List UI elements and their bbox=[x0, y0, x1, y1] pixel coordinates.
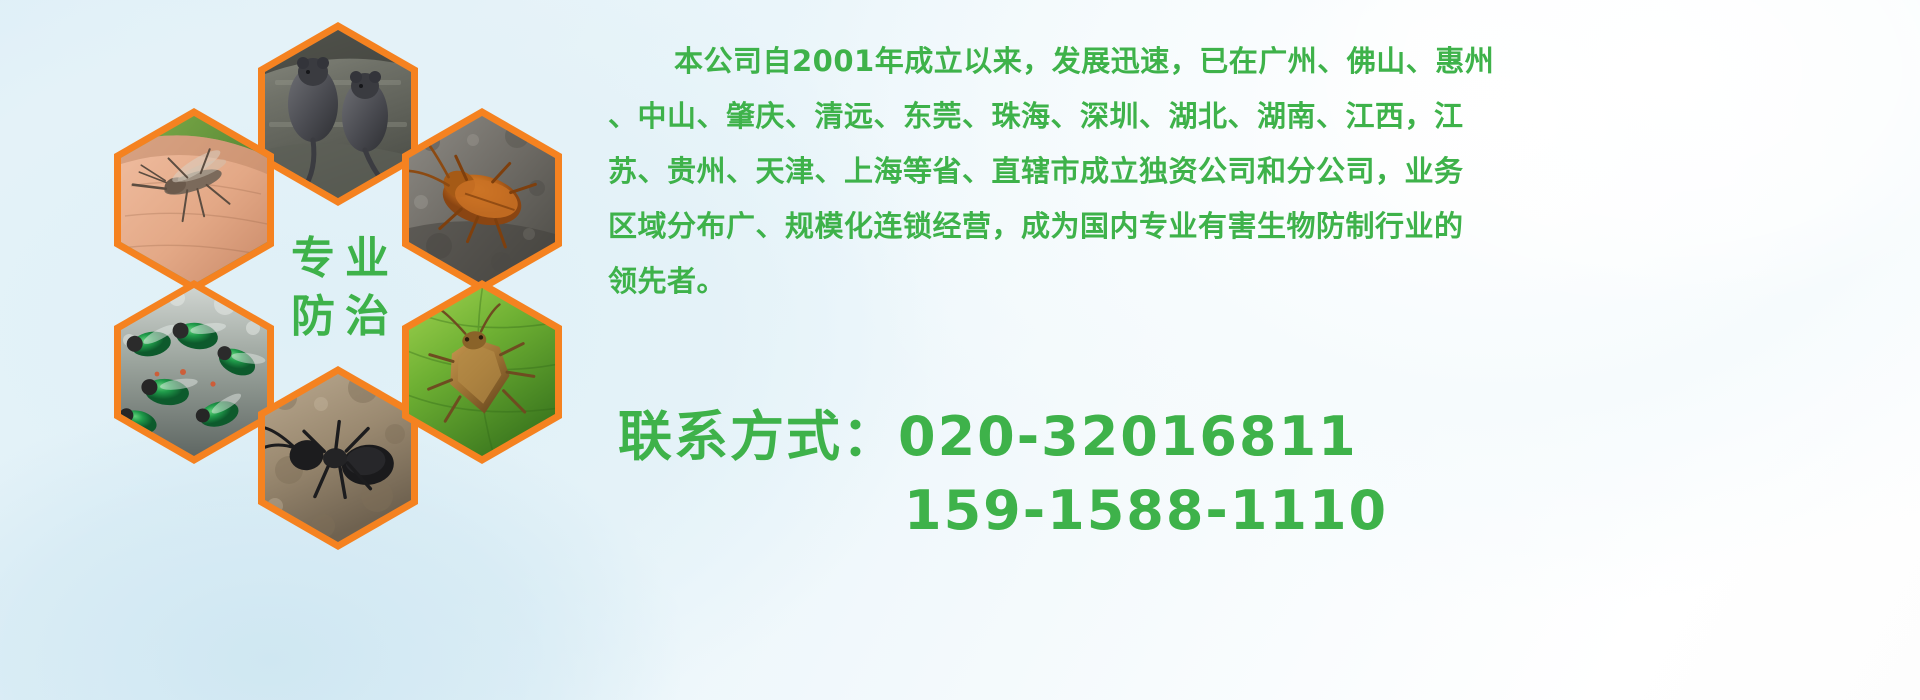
hex-cell-mosquito[interactable] bbox=[114, 108, 274, 292]
rat-photo bbox=[265, 30, 411, 198]
intro-line-1: 本公司自2001年成立以来，发展迅速，已在广州、佛山、惠州 bbox=[608, 34, 1898, 89]
intro-line-2: 、中山、肇庆、清远、东莞、珠海、深圳、湖北、湖南、江西，江 bbox=[608, 89, 1898, 144]
promo-banner: 专业 防治 本公司自2001年成立以来，发展迅速，已在广州、佛山、惠州 、中山、… bbox=[0, 0, 1920, 700]
contact-phone-secondary[interactable]: 159-1588-1110 bbox=[904, 479, 1388, 542]
stinkbug-photo bbox=[409, 288, 555, 456]
contact-label: 联系方式： bbox=[618, 405, 898, 468]
emblem-label-line2: 防治 bbox=[281, 291, 399, 343]
company-intro: 本公司自2001年成立以来，发展迅速，已在广州、佛山、惠州 、中山、肇庆、清远、… bbox=[608, 34, 1898, 309]
contact-block: 联系方式：020-32016811 159-1588-1110 bbox=[618, 400, 1918, 548]
hex-cell-cockroach[interactable] bbox=[402, 108, 562, 292]
emblem-label-line1: 专业 bbox=[281, 233, 399, 285]
hex-cell-flies[interactable] bbox=[114, 280, 274, 464]
contact-secondary-line: 159-1588-1110 bbox=[618, 474, 1918, 548]
mosquito-photo bbox=[121, 116, 267, 284]
hex-cell-ant[interactable] bbox=[258, 366, 418, 550]
intro-line-5: 领先者。 bbox=[608, 254, 1898, 309]
intro-line-4: 区域分布广、规模化连锁经营，成为国内专业有害生物防制行业的 bbox=[608, 199, 1898, 254]
cockroach-photo bbox=[409, 116, 555, 284]
contact-phone-primary[interactable]: 020-32016811 bbox=[898, 405, 1358, 468]
intro-line-3: 苏、贵州、天津、上海等省、直辖市成立独资公司和分公司，业务 bbox=[608, 144, 1898, 199]
insect-hex-cluster: 专业 防治 bbox=[90, 8, 590, 568]
emblem-label: 专业 防治 bbox=[258, 194, 422, 382]
hex-cell-stinkbug[interactable] bbox=[402, 280, 562, 464]
fly-photo bbox=[121, 288, 267, 456]
hex-cell-rats[interactable] bbox=[258, 22, 418, 206]
contact-primary-line: 联系方式：020-32016811 bbox=[618, 400, 1918, 474]
ant-photo bbox=[265, 374, 411, 542]
